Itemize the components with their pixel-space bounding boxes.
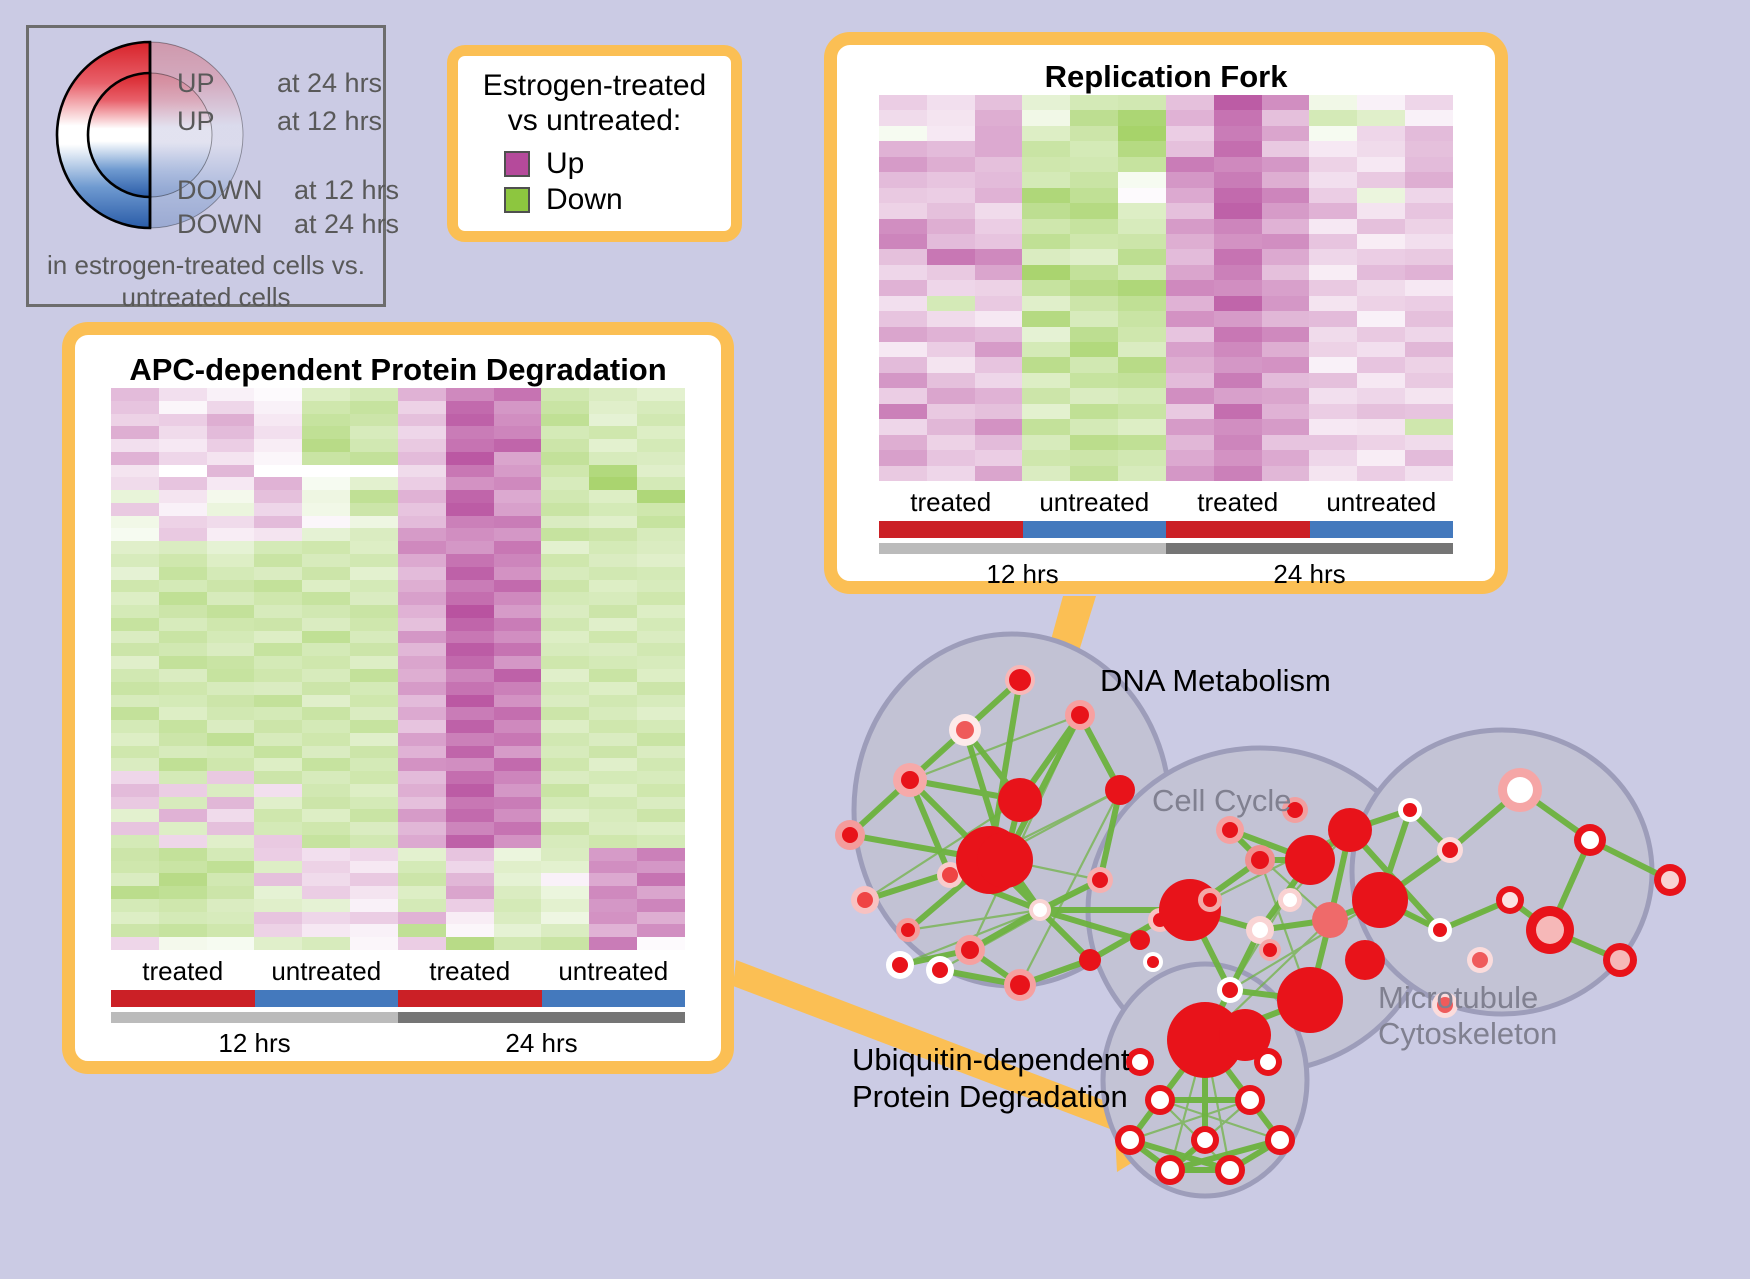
heatmap-cell <box>589 452 637 465</box>
heatmap-cell <box>398 439 446 452</box>
heatmap-cell <box>1357 141 1405 156</box>
heatmap-cell <box>637 733 685 746</box>
heatmap-cell <box>1070 249 1118 264</box>
heatmap-cell <box>494 503 542 516</box>
heatmap-cell <box>541 452 589 465</box>
heatmap-cell <box>207 605 255 618</box>
heatmap-cell <box>350 861 398 874</box>
heatmap-cell <box>1070 172 1118 187</box>
heatmap-cell <box>111 848 159 861</box>
heatmap-cell <box>350 452 398 465</box>
heatmap-cell <box>541 848 589 861</box>
heatmap-cell <box>254 707 302 720</box>
heatmap-cell <box>494 861 542 874</box>
heatmap-cell <box>879 388 927 403</box>
heatmap-cell <box>446 528 494 541</box>
heatmap-cell <box>494 528 542 541</box>
heatmap-cell <box>398 541 446 554</box>
heatmap-cell <box>927 203 975 218</box>
condition-label: untreated <box>1310 481 1454 521</box>
heatmap-cell <box>350 899 398 912</box>
heatmap-cell <box>541 605 589 618</box>
heatmap-cell <box>398 401 446 414</box>
heatmap-cell <box>446 567 494 580</box>
heatmap-cell <box>446 401 494 414</box>
legend-time-down-24: at 24 hrs <box>294 209 399 240</box>
heatmap-cell <box>589 899 637 912</box>
heatmap-cell <box>111 861 159 874</box>
heatmap-cell <box>1022 404 1070 419</box>
heatmap-cell <box>350 503 398 516</box>
heatmap-cell <box>975 249 1023 264</box>
heatmap-cell <box>879 172 927 187</box>
heatmap-cell <box>254 886 302 899</box>
heatmap-cell <box>111 618 159 631</box>
heatmap-cell <box>1070 450 1118 465</box>
heatmap-cell <box>1166 419 1214 434</box>
heatmap-cell <box>879 373 927 388</box>
heatmap-cell <box>637 414 685 427</box>
heatmap-cell <box>207 669 255 682</box>
heatmap-cell <box>1405 95 1453 110</box>
heatmap-cell <box>1118 265 1166 280</box>
heatmap-cell <box>589 554 637 567</box>
heatmap-cell <box>111 682 159 695</box>
heatmap-cell <box>446 656 494 669</box>
heatmap-cell <box>159 695 207 708</box>
heatmap-cell <box>494 669 542 682</box>
legend-footer-text: in estrogen-treated cells vs. untreated … <box>29 250 383 314</box>
heatmap-cell <box>159 605 207 618</box>
heatmap-cell <box>159 848 207 861</box>
heatmap-cell <box>1022 249 1070 264</box>
heatmap-cell <box>207 682 255 695</box>
heatmap-cell <box>541 439 589 452</box>
heatmap-cell <box>254 937 302 950</box>
heatmap-cell <box>975 141 1023 156</box>
heatmap-cell <box>254 656 302 669</box>
heatmap-cell <box>541 809 589 822</box>
heatmap-cell <box>111 873 159 886</box>
heatmap-cell <box>1357 126 1405 141</box>
heatmap-cell <box>1309 219 1357 234</box>
heatmap-cell <box>446 414 494 427</box>
cluster-label-cell-cycle: Cell Cycle <box>1152 783 1292 819</box>
heatmap-cell <box>879 311 927 326</box>
heatmap-cell <box>111 439 159 452</box>
heatmap-cell <box>1022 157 1070 172</box>
time-bar-segment <box>398 1012 685 1023</box>
heatmap-cell <box>1070 388 1118 403</box>
heatmap-cell <box>637 477 685 490</box>
heatmap-cell <box>159 746 207 759</box>
heatmap-cell <box>1405 311 1453 326</box>
heatmap-cell <box>975 172 1023 187</box>
heatmap-cell <box>350 848 398 861</box>
heatmap-cell <box>637 528 685 541</box>
condition-bar-segment <box>1166 521 1310 538</box>
heatmap-cell <box>1405 265 1453 280</box>
heatmap-cell <box>1070 234 1118 249</box>
heatmap-cell <box>541 835 589 848</box>
heatmap-cell <box>1262 466 1310 481</box>
heatmap-cell <box>446 720 494 733</box>
heatmap-cell <box>254 784 302 797</box>
panel-apc-protein-degradation: APC-dependent Protein Degradation treate… <box>62 322 734 1074</box>
heatmap-cell <box>589 733 637 746</box>
heatmap-cell <box>541 682 589 695</box>
heatmap-cell <box>637 771 685 784</box>
heatmap-cell <box>589 848 637 861</box>
heatmap-cell <box>589 503 637 516</box>
heatmap-cell <box>398 414 446 427</box>
heatmap-cell <box>975 342 1023 357</box>
heatmap-cell <box>1309 234 1357 249</box>
heatmap-cell <box>975 466 1023 481</box>
heatmap-cell <box>637 618 685 631</box>
heatmap-cell <box>1022 450 1070 465</box>
heatmap-cell <box>1309 157 1357 172</box>
heatmap-cell <box>1214 373 1262 388</box>
heatmap-cell <box>207 503 255 516</box>
heatmap-cell <box>1166 296 1214 311</box>
heatmap-cell <box>494 567 542 580</box>
heatmap-cell <box>398 631 446 644</box>
heatmap-cell <box>207 924 255 937</box>
heatmap-cell <box>207 912 255 925</box>
heatmap-cell <box>1166 435 1214 450</box>
heatmap-cell <box>1070 311 1118 326</box>
heatmap-cell <box>494 554 542 567</box>
heatmap-cell <box>1214 219 1262 234</box>
heatmap-cell <box>254 848 302 861</box>
heatmap-cell <box>398 477 446 490</box>
heatmap-cell <box>398 452 446 465</box>
heatmap-cell <box>1357 265 1405 280</box>
heatmap-cell <box>975 234 1023 249</box>
heatmap-cell <box>398 720 446 733</box>
heatmap-cell <box>207 567 255 580</box>
heatmap-cell <box>111 631 159 644</box>
heatmap-cell <box>1214 265 1262 280</box>
heatmap-cell <box>111 758 159 771</box>
heatmap-cell <box>494 426 542 439</box>
heatmap-cell <box>446 682 494 695</box>
heatmap-cell <box>494 707 542 720</box>
heatmap-cell <box>207 899 255 912</box>
heatmap-cell <box>1214 141 1262 156</box>
heatmap-cell <box>879 110 927 125</box>
heatmap-cell <box>1166 249 1214 264</box>
heatmap-cell <box>254 899 302 912</box>
heatmap-cell <box>446 669 494 682</box>
heatmap-cell <box>159 707 207 720</box>
heatmap-cell <box>589 720 637 733</box>
heatmap-cell <box>637 746 685 759</box>
heatmap-cell <box>398 554 446 567</box>
heatmap-cell <box>927 280 975 295</box>
heatmap-cell <box>1118 357 1166 372</box>
time-labels-replication: 12 hrs 24 hrs <box>879 554 1453 590</box>
heatmap-cell <box>111 388 159 401</box>
heatmap-cell <box>1118 141 1166 156</box>
heatmap-cell <box>302 669 350 682</box>
heatmap-cell <box>494 439 542 452</box>
heatmap-cell <box>879 265 927 280</box>
heatmap-cell <box>637 631 685 644</box>
heatmap-cell <box>159 669 207 682</box>
heatmap-cell <box>350 618 398 631</box>
heatmap-cell <box>350 937 398 950</box>
heatmap-cell <box>1214 249 1262 264</box>
heatmap-cell <box>111 784 159 797</box>
heatmap-cell <box>111 695 159 708</box>
heatmap-cell <box>975 157 1023 172</box>
heatmap-cell <box>879 327 927 342</box>
heatmap-cell <box>446 848 494 861</box>
heatmap-cell <box>302 886 350 899</box>
heatmap-cell <box>541 580 589 593</box>
heatmap-cell <box>1357 357 1405 372</box>
heatmap-cell <box>302 848 350 861</box>
heatmap-cell <box>159 733 207 746</box>
heatmap-cell <box>589 388 637 401</box>
heatmap-cell <box>541 886 589 899</box>
heatmap-cell <box>541 414 589 427</box>
heatmap-cell <box>1022 466 1070 481</box>
heatmap-cell <box>1070 219 1118 234</box>
heatmap-cell <box>111 835 159 848</box>
heatmap-cell <box>398 758 446 771</box>
heatmap-cell <box>637 516 685 529</box>
panel-replication-fork: Replication Fork treated untreated treat… <box>824 32 1508 594</box>
heatmap-cell <box>1070 203 1118 218</box>
heatmap-cell <box>541 733 589 746</box>
legend-time-down-12: at 12 hrs <box>294 175 399 206</box>
heatmap-cell <box>589 707 637 720</box>
heatmap-cell <box>350 873 398 886</box>
condition-color-bar-replication <box>879 521 1453 538</box>
heatmap-cell <box>159 439 207 452</box>
heatmap-cell <box>1405 466 1453 481</box>
heatmap-cell <box>589 580 637 593</box>
heatmap-cell <box>254 516 302 529</box>
time-label: 24 hrs <box>398 1023 685 1059</box>
heatmap-cell <box>541 707 589 720</box>
heatmap-cell <box>302 899 350 912</box>
heatmap-cell <box>1357 296 1405 311</box>
heatmap-cell <box>254 439 302 452</box>
heatmap-cell <box>302 643 350 656</box>
heatmap-cell <box>1070 435 1118 450</box>
heatmap-cell <box>1309 450 1357 465</box>
heatmap-cell <box>446 439 494 452</box>
heatmap-cell <box>207 401 255 414</box>
heatmap-cell <box>541 822 589 835</box>
condition-label: untreated <box>542 950 686 990</box>
heatmap-cell <box>1022 435 1070 450</box>
heatmap-cell <box>1214 404 1262 419</box>
heatmap-cell <box>1070 110 1118 125</box>
heatmap-cell <box>1262 280 1310 295</box>
heatmap-cell <box>927 296 975 311</box>
heatmap-cell <box>637 848 685 861</box>
heatmap-cell <box>111 886 159 899</box>
heatmap-cell <box>879 219 927 234</box>
heatmap-cell <box>1166 188 1214 203</box>
heatmap-cell <box>637 388 685 401</box>
heatmap-cell <box>254 924 302 937</box>
heatmap-cell <box>1405 373 1453 388</box>
heatmap-cell <box>494 733 542 746</box>
heatmap-cell <box>1214 419 1262 434</box>
heatmap-cell <box>541 465 589 478</box>
heatmap-cell <box>927 95 975 110</box>
condition-label: treated <box>879 481 1023 521</box>
heatmap-cell <box>927 265 975 280</box>
heatmap-cell <box>589 695 637 708</box>
heatmap-cell <box>302 592 350 605</box>
heatmap-cell <box>1262 296 1310 311</box>
heatmap-cell <box>1357 450 1405 465</box>
legend-label-down-12: DOWN <box>177 175 262 206</box>
condition-color-bar-apc <box>111 990 685 1007</box>
heatmap-cell <box>1118 234 1166 249</box>
heatmap-cell <box>1309 95 1357 110</box>
heatmap-cell <box>302 567 350 580</box>
heatmap-cell <box>494 924 542 937</box>
heatmap-cell <box>1166 126 1214 141</box>
heatmap-cell <box>927 373 975 388</box>
heatmap-cell <box>541 912 589 925</box>
heatmap-cell <box>1357 249 1405 264</box>
heatmap-cell <box>1357 404 1405 419</box>
heatmap-cell <box>302 758 350 771</box>
heatmap-cell <box>541 503 589 516</box>
heatmap-cell <box>1118 450 1166 465</box>
heatmap-cell <box>207 452 255 465</box>
heatmap-cell <box>494 758 542 771</box>
heatmap-cell <box>207 886 255 899</box>
heatmap-cell <box>302 503 350 516</box>
heatmap-cell <box>111 401 159 414</box>
heatmap-cell <box>159 899 207 912</box>
heatmap-cell <box>494 452 542 465</box>
heatmap-cell <box>1166 450 1214 465</box>
heatmap-cell <box>350 746 398 759</box>
heatmap-cell <box>302 695 350 708</box>
heatmap-cell <box>975 203 1023 218</box>
heatmap-cell <box>254 746 302 759</box>
heatmap-cell <box>446 797 494 810</box>
heatmap-cell <box>1166 234 1214 249</box>
heatmap-cell <box>494 631 542 644</box>
heatmap-cell <box>1166 172 1214 187</box>
heatmap-cell <box>207 873 255 886</box>
heatmap-cell <box>637 758 685 771</box>
heatmap-cell <box>398 784 446 797</box>
heatmap-cell <box>350 835 398 848</box>
heatmap-cell <box>398 580 446 593</box>
heatmap-cell <box>159 771 207 784</box>
heatmap-cell <box>1405 110 1453 125</box>
updown-circle-diagram <box>47 38 257 238</box>
heatmap-cell <box>159 388 207 401</box>
heatmap-cell <box>350 924 398 937</box>
heatmap-cell <box>254 452 302 465</box>
heatmap-cell <box>350 912 398 925</box>
heatmap-cell <box>350 477 398 490</box>
heatmap-cell <box>879 404 927 419</box>
heatmap-cell <box>1166 373 1214 388</box>
heatmap-cell <box>254 809 302 822</box>
heatmap-cell <box>975 419 1023 434</box>
heatmap-cell <box>879 234 927 249</box>
heatmap-cell <box>1405 419 1453 434</box>
heatmap-cell <box>159 554 207 567</box>
heatmap-cell <box>1405 357 1453 372</box>
heatmap-cell <box>302 541 350 554</box>
heatmap-cell <box>111 924 159 937</box>
heatmap-cell <box>637 656 685 669</box>
heatmap-cell <box>1022 296 1070 311</box>
heatmap-cell <box>398 848 446 861</box>
heatmap-cell <box>1357 342 1405 357</box>
heatmap-cell <box>398 643 446 656</box>
heatmap-cell <box>927 466 975 481</box>
heatmap-cell <box>637 873 685 886</box>
heatmap-cell <box>254 605 302 618</box>
heatmap-cell <box>1070 157 1118 172</box>
circle-legend-box: UP at 24 hrs UP at 12 hrs DOWN at 12 hrs… <box>26 25 386 307</box>
heatmap-cell <box>637 912 685 925</box>
heatmap-cell <box>159 912 207 925</box>
condition-bar-segment <box>879 521 1023 538</box>
heatmap-cell <box>111 797 159 810</box>
heatmap-cell <box>494 682 542 695</box>
heatmap-cell <box>1262 450 1310 465</box>
heatmap-cell <box>589 477 637 490</box>
heatmap-cell <box>111 592 159 605</box>
heatmap-cell <box>637 503 685 516</box>
heatmap-cell <box>637 541 685 554</box>
heatmap-cell <box>927 157 975 172</box>
heatmap-cell <box>494 695 542 708</box>
legend-item-down: Down <box>504 183 731 217</box>
heatmap-cell <box>637 861 685 874</box>
heatmap-cell <box>350 605 398 618</box>
heatmap-cell <box>398 490 446 503</box>
time-color-bar-apc <box>111 1012 685 1023</box>
heatmap-cell <box>350 490 398 503</box>
heatmap-cell <box>1309 265 1357 280</box>
heatmap-cell <box>1405 280 1453 295</box>
heatmap-cell <box>302 797 350 810</box>
heatmap-cell <box>1262 219 1310 234</box>
heatmap-cell <box>446 835 494 848</box>
heatmap-cell <box>254 758 302 771</box>
heatmap-cell <box>927 419 975 434</box>
heatmap-cell <box>494 541 542 554</box>
heatmap-cell <box>159 541 207 554</box>
heatmap-cell <box>879 280 927 295</box>
heatmap-cell <box>302 490 350 503</box>
heatmap-cell <box>589 861 637 874</box>
heatmap-cell <box>398 426 446 439</box>
heatmap-cell <box>302 605 350 618</box>
heatmap-cell <box>637 720 685 733</box>
heatmap-cell <box>1118 126 1166 141</box>
